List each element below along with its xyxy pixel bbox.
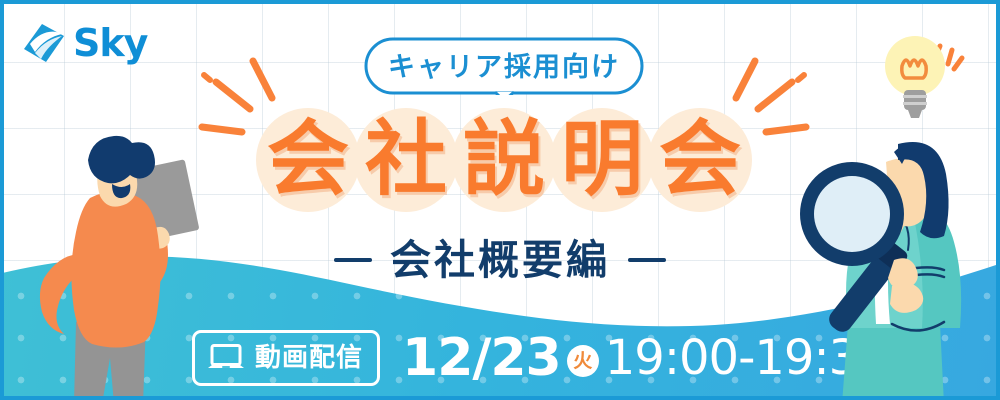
badge-label: キャリア採用向け: [364, 37, 644, 95]
title-char-text: 社: [365, 119, 447, 201]
day-of-week-badge: 火: [567, 345, 599, 377]
company-briefing-banner: Sky キャリア採用向け 会 社 説 明 会 会社概要編 動画配信: [0, 0, 1000, 400]
title-char: 社: [357, 100, 455, 220]
event-date: 12/23: [402, 332, 561, 384]
title-char: 明: [553, 100, 651, 220]
title-char-text: 会: [267, 119, 349, 201]
title-char-text: 会: [659, 119, 741, 201]
video-delivery-chip: 動画配信: [192, 330, 380, 386]
person-with-tablet-illustration: [18, 132, 208, 400]
sky-logo[interactable]: Sky: [22, 22, 147, 64]
subtitle-rule-left: [334, 258, 372, 262]
sky-logo-text: Sky: [73, 24, 147, 62]
page-title: 会 社 説 明 会: [259, 100, 749, 220]
lightbulb-icon: [862, 22, 970, 128]
title-char: 会: [259, 100, 357, 220]
title-char-text: 説: [463, 119, 545, 201]
sky-diamond-swirl-icon: [22, 22, 66, 64]
subtitle-text: 会社概要編: [390, 240, 610, 281]
target-audience-badge: キャリア採用向け: [364, 37, 644, 95]
title-char: 会: [651, 100, 749, 220]
title-char: 説: [455, 100, 553, 220]
woman-with-magnifier-illustration: [790, 128, 1000, 400]
video-delivery-label: 動画配信: [255, 345, 363, 371]
event-info-row: 動画配信 12/23 火 19:00-19:30: [192, 329, 888, 387]
subtitle-rule-right: [628, 258, 666, 262]
laptop-icon: [207, 344, 245, 372]
title-char-text: 明: [561, 119, 643, 201]
